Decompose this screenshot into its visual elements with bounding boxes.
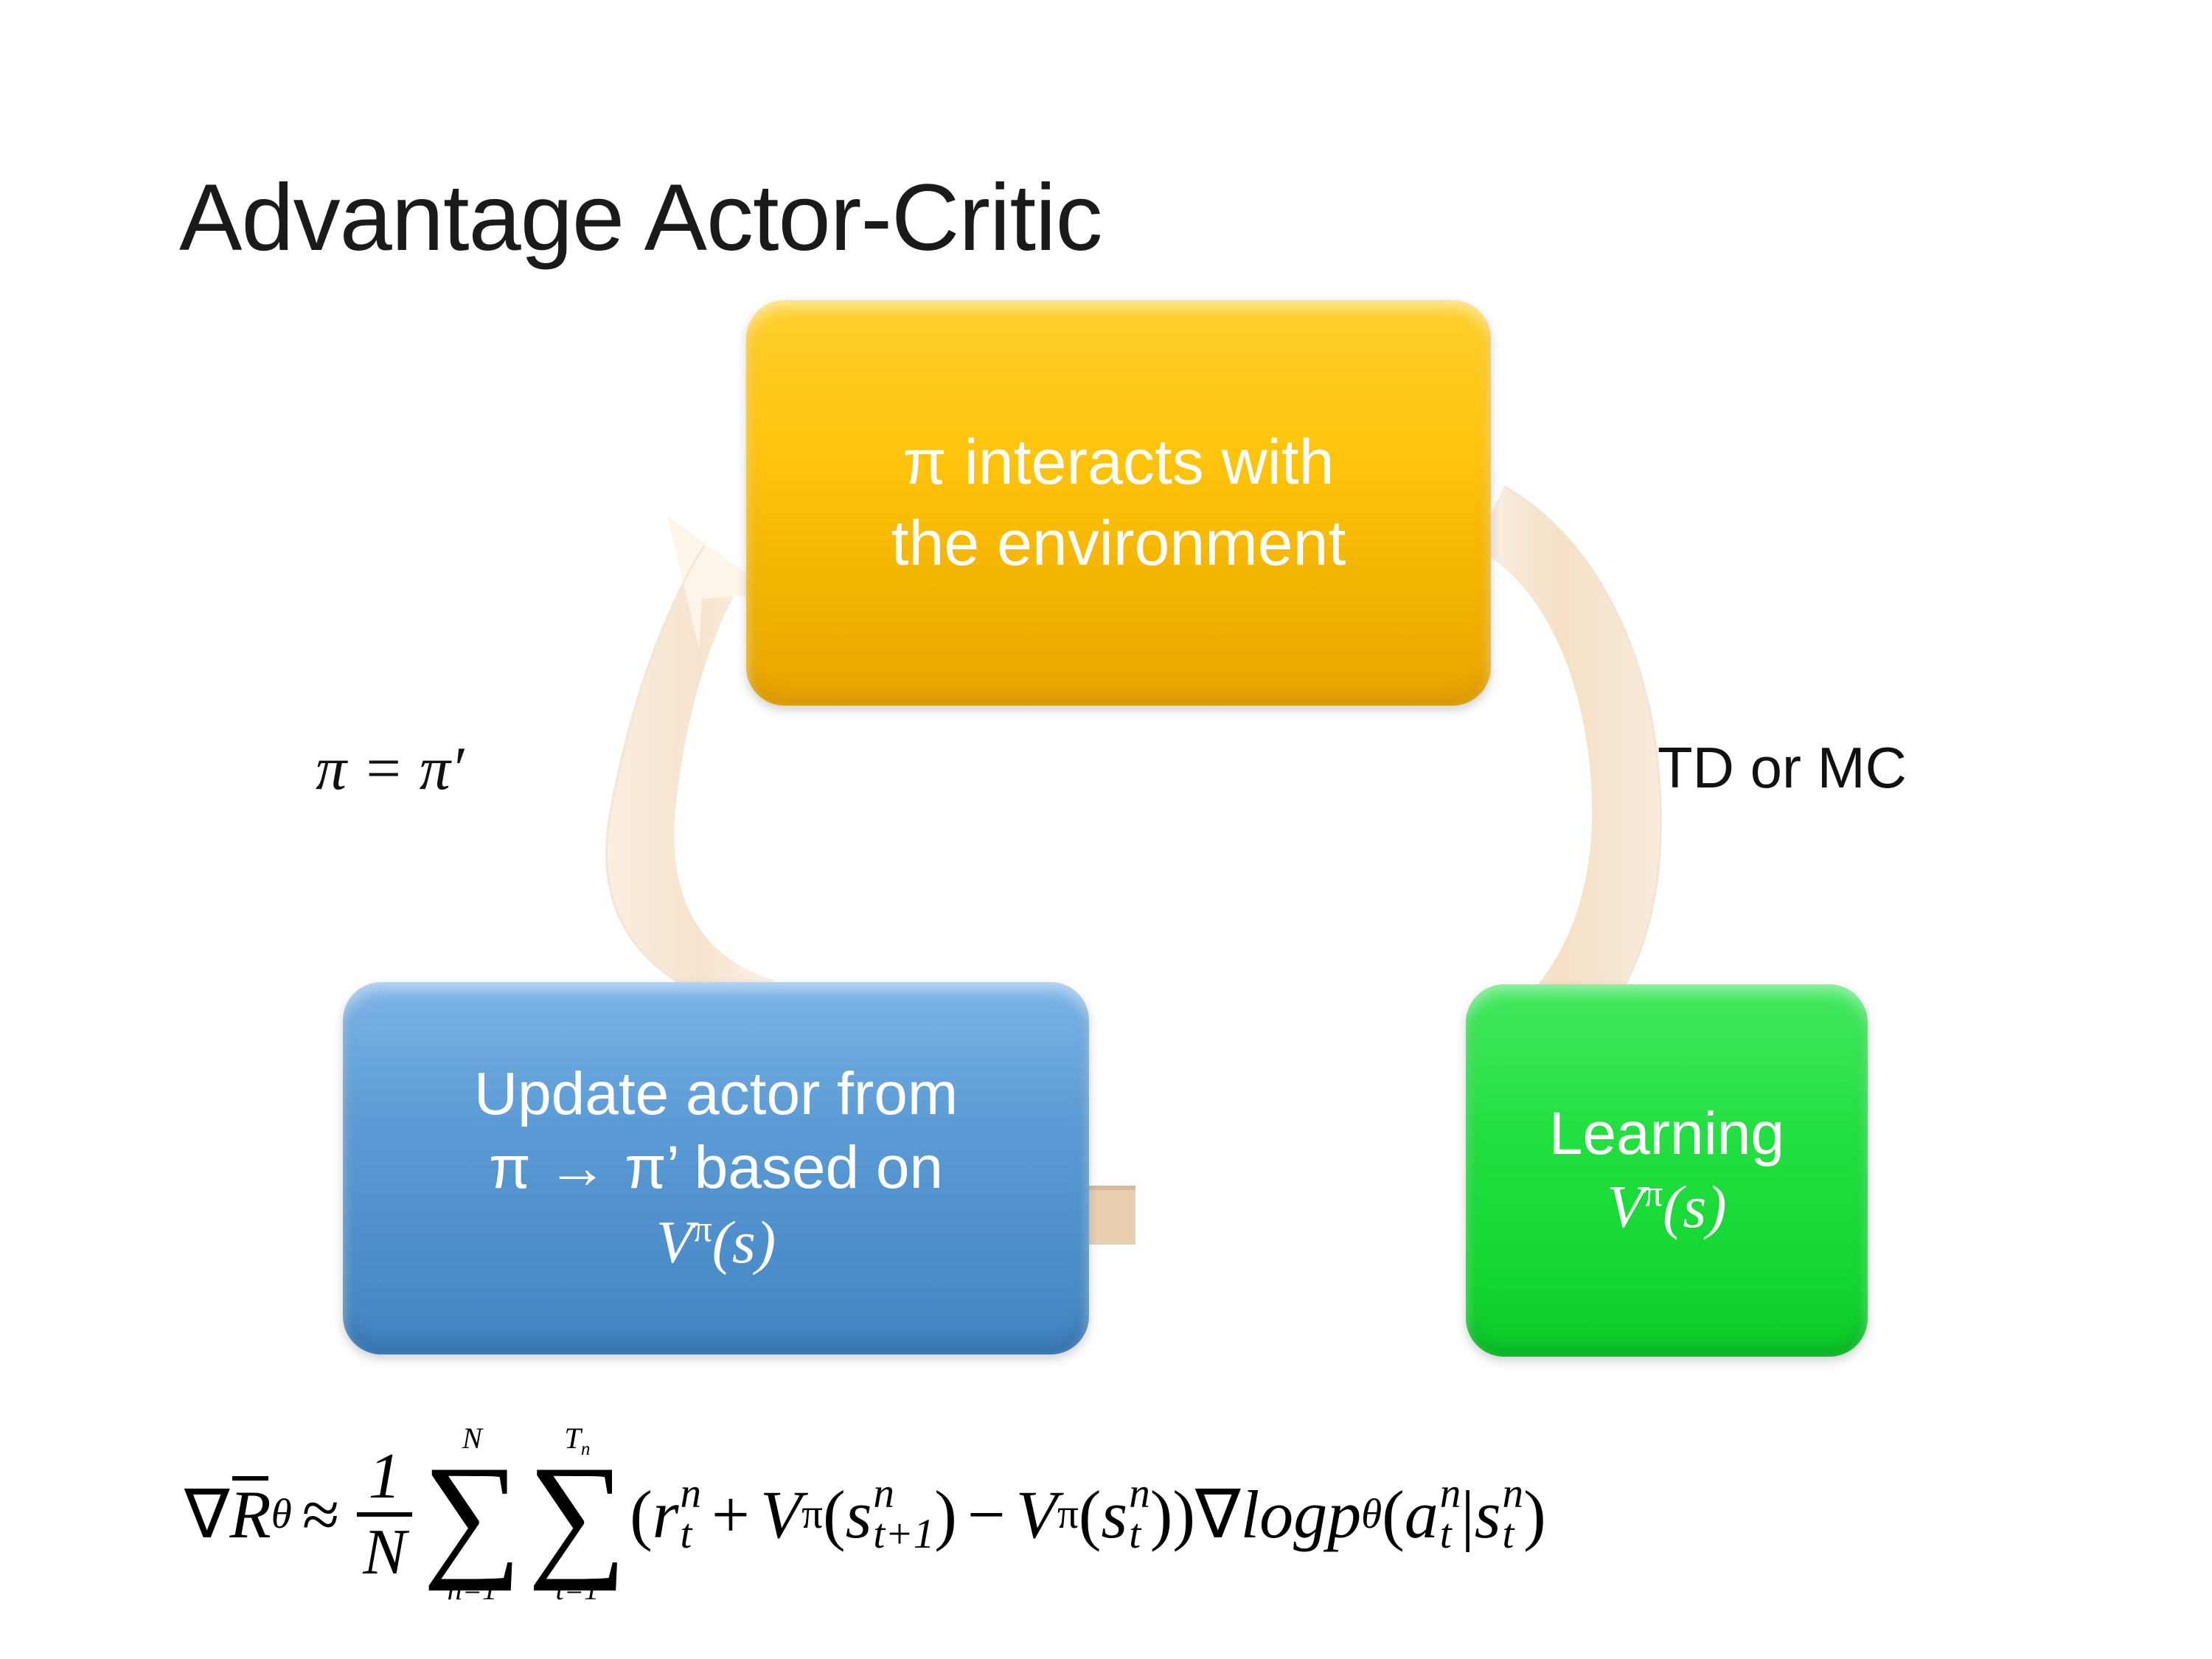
environment-line-1: π interacts with [768, 422, 1469, 503]
formula-V2-open: ( [1079, 1481, 1102, 1548]
formula-V2-state-indices: nt [1129, 1474, 1150, 1554]
process-box-environment[interactable]: π interacts with the environment [746, 300, 1491, 706]
critic-word: Learning [1549, 1100, 1784, 1167]
curved-arrow-down-icon [1475, 487, 1661, 1032]
formula-sum1-sigma: ∑ [422, 1455, 521, 1574]
formula-V2-state-superscript: n [1129, 1474, 1150, 1514]
formula-arg-close: ) [1523, 1481, 1546, 1548]
formula-V1-state-superscript: n [873, 1474, 894, 1514]
actor-line-2: π → π’ based on [365, 1131, 1067, 1205]
formula-a-indices: nt [1440, 1474, 1461, 1554]
process-box-update-actor[interactable]: Update actor from π → π’ based on Vπ(s) [343, 982, 1089, 1354]
formula-s-subscript: t [1503, 1514, 1514, 1554]
formula-s-indices: nt [1503, 1474, 1524, 1554]
formula-V1-state-indices: nt+1 [873, 1474, 934, 1554]
formula-V1-close: ) [934, 1481, 957, 1548]
critic-V-superscript: π [1644, 1172, 1663, 1214]
formula-sum1-lower: n=1 [448, 1574, 498, 1606]
formula-r-superscript: n [681, 1474, 702, 1514]
edge-label-td-or-mc: TD or MC [1658, 734, 1907, 801]
formula-action-a: a [1405, 1481, 1439, 1548]
formula-a-subscript: t [1440, 1514, 1452, 1554]
process-box-learning-critic[interactable]: Learning Vπ(s) [1466, 984, 1868, 1357]
formula-V1-state: s [846, 1481, 872, 1548]
formula-r-indices: n t [681, 1474, 702, 1554]
formula-V1: V [760, 1481, 801, 1548]
formula-minus: − [957, 1481, 1016, 1548]
formula-approx: ≈ [292, 1481, 350, 1548]
formula-V2-state-subscript: t [1129, 1514, 1141, 1554]
formula-reward-r: r [653, 1481, 679, 1548]
formula-frac-denominator: N [357, 1520, 412, 1585]
formula-conditional-bar: | [1461, 1481, 1474, 1548]
critic-V-symbol: V [1607, 1173, 1644, 1240]
page-title: Advantage Actor-Critic [179, 171, 1102, 265]
actor-line-3: Vπ(s) [365, 1206, 1067, 1279]
formula-V2-close: ) [1150, 1481, 1173, 1548]
actor-V-argument: (s) [712, 1208, 776, 1276]
formula-sum-over-n: N ∑ n=1 [422, 1423, 521, 1605]
formula-nabla: ∇ [184, 1481, 230, 1548]
formula-V2-state: s [1101, 1481, 1127, 1548]
slide-canvas: Advantage Actor-Critic [0, 0, 2212, 1659]
formula-nabla-2: ∇ [1195, 1481, 1241, 1548]
environment-line-2: the environment [768, 503, 1469, 584]
actor-V-symbol: V [656, 1208, 693, 1276]
formula-V1-state-subscript: t+1 [873, 1514, 934, 1554]
process-box-environment-text: π interacts with the environment [746, 422, 1491, 584]
formula-state-s: s [1475, 1481, 1501, 1548]
formula-a-superscript: n [1440, 1474, 1461, 1514]
gradient-formula: ∇Rθ ≈ 1 N N ∑ n=1 Tn ∑ t=1 ( r n t + Vπ(… [184, 1423, 2101, 1605]
formula-logp: logp [1241, 1481, 1362, 1548]
formula-V1-open: ( [823, 1481, 846, 1548]
formula-sum-over-t: Tn ∑ t=1 [528, 1423, 627, 1605]
formula-frac-numerator: 1 [363, 1444, 407, 1509]
formula-sum2-lower: t=1 [555, 1574, 599, 1606]
formula-s-superscript: n [1503, 1474, 1524, 1514]
formula-arg-open: ( [1382, 1481, 1405, 1548]
formula-R-bar: R [230, 1481, 271, 1548]
actor-V-superscript: π [693, 1208, 712, 1249]
formula-plus: + [701, 1481, 760, 1548]
formula-r-subscript: t [681, 1514, 692, 1554]
formula-open-paren: ( [630, 1481, 653, 1548]
formula-close-paren: ) [1172, 1481, 1195, 1548]
formula-sum2-sigma: ∑ [528, 1455, 627, 1574]
formula-fraction-one-over-n: 1 N [357, 1444, 412, 1585]
process-box-learning-critic-text: Learning Vπ(s) [1466, 1098, 1868, 1243]
process-box-update-actor-text: Update actor from π → π’ based on Vπ(s) [343, 1057, 1089, 1279]
actor-line-1: Update actor from [365, 1057, 1067, 1131]
straight-connector-icon [1082, 1186, 1135, 1245]
critic-V-argument: (s) [1663, 1173, 1727, 1240]
edge-label-policy-update: π = π′ [316, 733, 464, 804]
formula-V2: V [1016, 1481, 1057, 1548]
